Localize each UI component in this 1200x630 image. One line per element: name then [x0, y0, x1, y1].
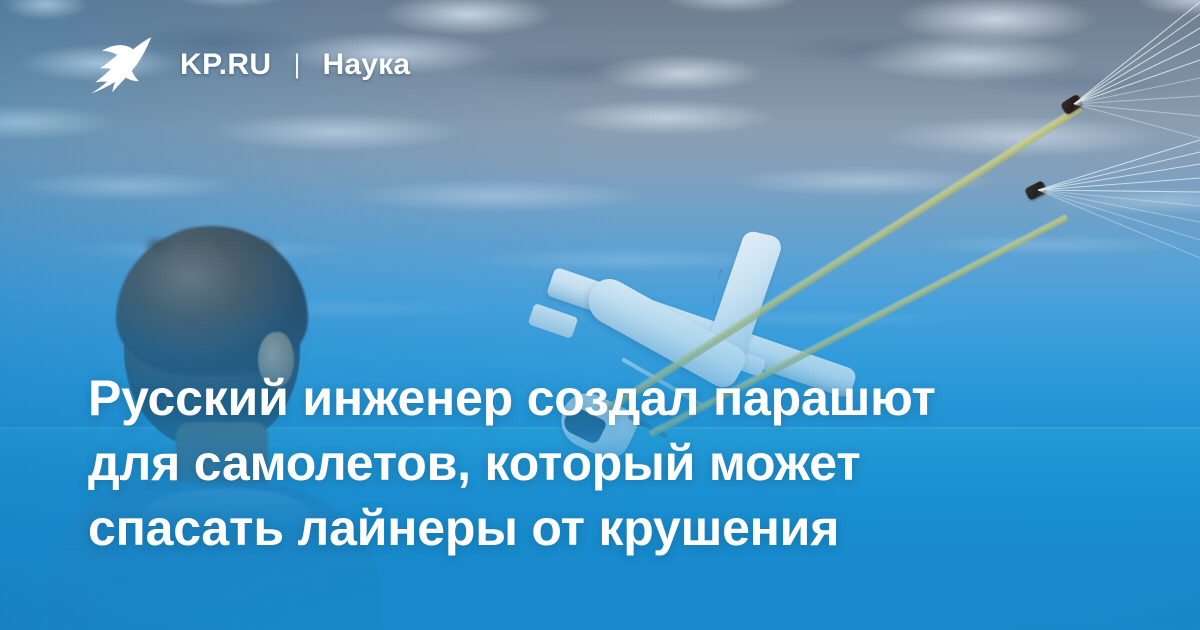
- brand-header[interactable]: KP.RU | Наука: [88, 34, 410, 96]
- headline-line-1: Русский инженер создал парашют: [88, 366, 1098, 431]
- headline: Русский инженер создал парашют для самол…: [88, 366, 1098, 561]
- headline-line-3: спасать лайнеры от крушения: [88, 496, 1098, 561]
- brand-name: KP.RU: [180, 50, 271, 80]
- section-label[interactable]: Наука: [323, 50, 411, 80]
- brand-separator: |: [293, 51, 300, 78]
- swallow-bird-logo-icon[interactable]: [88, 34, 152, 96]
- share-card: KP.RU | Наука Русский инженер создал пар…: [0, 0, 1200, 630]
- headline-line-2: для самолетов, который может: [88, 431, 1098, 496]
